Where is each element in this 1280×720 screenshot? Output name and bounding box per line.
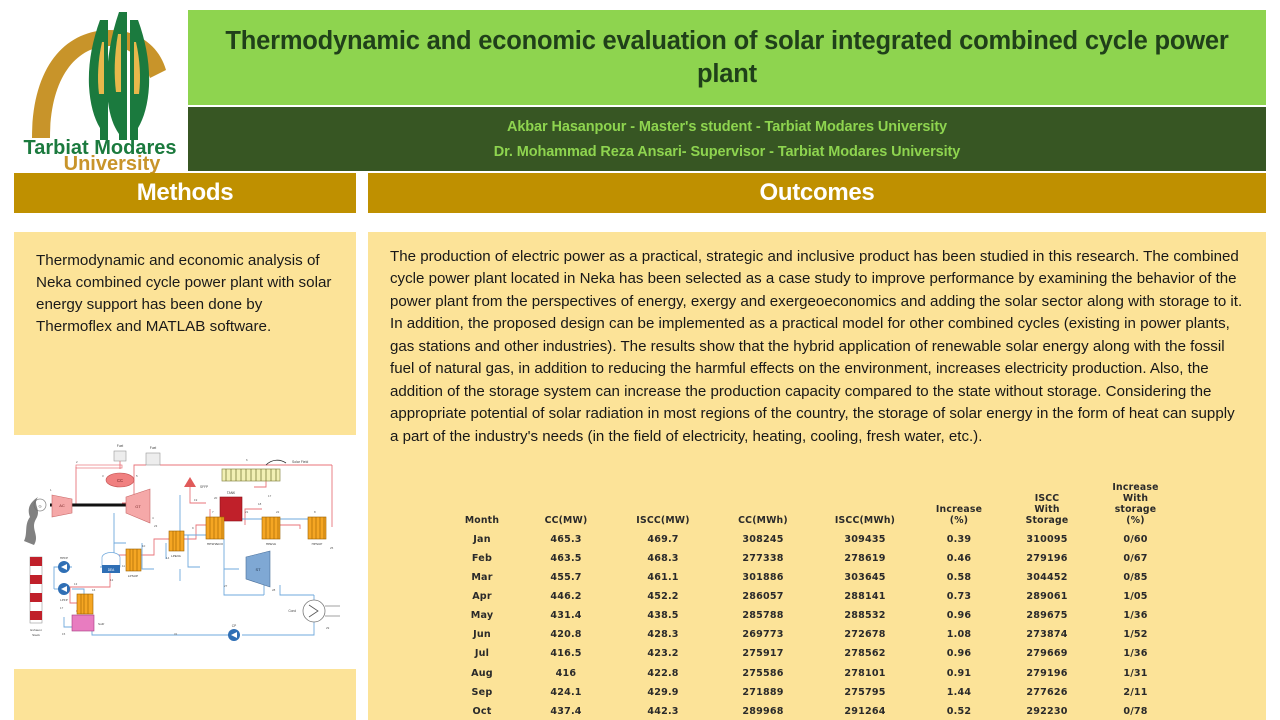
table-cell: 0.39 <box>917 530 1001 549</box>
table-cell: 288141 <box>813 587 917 606</box>
hx-hpeva-label: HPEVA <box>266 542 277 546</box>
svg-text:12: 12 <box>110 578 114 582</box>
table-cell: 289061 <box>1001 587 1093 606</box>
svg-text:17: 17 <box>60 606 64 610</box>
page-title: Thermodynamic and economic evaluation of… <box>188 25 1266 90</box>
table-cell: May <box>445 606 519 625</box>
table-cell: 289675 <box>1001 606 1093 625</box>
svg-text:23: 23 <box>154 524 158 528</box>
svg-text:17: 17 <box>268 494 272 498</box>
process-flow-diagram: G AC CC GT Fuel Fuel <box>14 439 356 669</box>
table-cell: 0.52 <box>917 702 1001 720</box>
table-cell: 455.7 <box>519 568 613 587</box>
hx-lpsup-label: LPSUP <box>128 574 138 578</box>
table-cell: 431.4 <box>519 606 613 625</box>
condenser-label: Cond <box>288 609 296 613</box>
table-cell: 469.7 <box>613 530 713 549</box>
table-cell: 2/11 <box>1093 683 1178 702</box>
svg-text:11: 11 <box>122 564 125 568</box>
table-cell: 0/60 <box>1093 530 1178 549</box>
results-table-wrapper: MonthCC(MW)ISCC(MW)CC(MWh)ISCC(MWh)Incre… <box>445 482 1178 720</box>
table-column-header: ISCC(MW) <box>613 482 713 530</box>
author-line-2: Dr. Mohammad Reza Ansari- Supervisor - T… <box>494 144 961 160</box>
table-row: Oct437.4442.32899682912640.522922300/78 <box>445 702 1178 720</box>
table-cell: 446.2 <box>519 587 613 606</box>
svg-text:18: 18 <box>258 502 262 506</box>
table-cell: 303645 <box>813 568 917 587</box>
table-cell: 288532 <box>813 606 917 625</box>
fuel-valve-2-icon <box>146 453 160 465</box>
svg-text:25: 25 <box>330 546 334 550</box>
table-cell: 1/36 <box>1093 644 1178 663</box>
table-row: Apr446.2452.22860572881410.732890611/05 <box>445 587 1178 606</box>
fuel-label-1: Fuel <box>117 444 124 448</box>
svg-text:14: 14 <box>166 556 170 560</box>
methods-text-panel: Thermodynamic and economic analysis of N… <box>14 232 356 435</box>
table-row: May431.4438.52857882885320.962896751/36 <box>445 606 1178 625</box>
hx-hpsh-label: HPSH/ECO <box>207 542 224 546</box>
table-cell: 308245 <box>713 530 813 549</box>
poster-page: Tarbiat Modares University Thermodynamic… <box>0 0 1280 720</box>
table-row: Sep424.1429.92718892757951.442776262/11 <box>445 683 1178 702</box>
outcomes-body-text: The production of electric power as a pr… <box>390 246 1244 448</box>
table-cell: 422.8 <box>613 664 713 683</box>
section-heading-outcomes: Outcomes <box>760 179 875 207</box>
table-cell: 272678 <box>813 625 917 644</box>
table-cell: Aug <box>445 664 519 683</box>
table-cell: 286057 <box>713 587 813 606</box>
svg-text:15: 15 <box>62 632 66 636</box>
table-cell: 0.58 <box>917 568 1001 587</box>
table-cell: 275917 <box>713 644 813 663</box>
table-column-header: Increase(%) <box>917 482 1001 530</box>
storage-tank-label: TANK <box>227 491 236 495</box>
table-cell: 289968 <box>713 702 813 720</box>
table-cell: 0/78 <box>1093 702 1178 720</box>
svg-text:31: 31 <box>174 632 178 636</box>
table-cell: 465.3 <box>519 530 613 549</box>
table-column-header-line: CC(MW) <box>520 516 612 527</box>
table-cell: 437.4 <box>519 702 613 720</box>
table-cell: 463.5 <box>519 549 613 568</box>
table-cell: 310095 <box>1001 530 1093 549</box>
table-cell: 291264 <box>813 702 917 720</box>
table-row: Jul416.5423.22759172785620.962796691/36 <box>445 644 1178 663</box>
poster-title-banner: Thermodynamic and economic evaluation of… <box>188 10 1266 105</box>
table-column-header-line: (%) <box>1094 516 1177 527</box>
table-cell: 0.46 <box>917 549 1001 568</box>
table-cell: 428.3 <box>613 625 713 644</box>
heat-exchanger-hpsh-icon: HPSH/ECO <box>206 517 224 546</box>
table-cell: 269773 <box>713 625 813 644</box>
table-cell: Jan <box>445 530 519 549</box>
hx-lpeva-label: LPEVA <box>171 554 182 558</box>
section-heading-methods: Methods <box>137 179 234 207</box>
table-cell: 304452 <box>1001 568 1093 587</box>
solar-field-label: Solar Field <box>292 460 308 464</box>
logo-artwork: Tarbiat Modares University <box>14 8 184 174</box>
table-header: MonthCC(MW)ISCC(MW)CC(MWh)ISCC(MWh)Incre… <box>445 482 1178 530</box>
table-cell: 423.2 <box>613 644 713 663</box>
table-cell: Mar <box>445 568 519 587</box>
table-cell: Sep <box>445 683 519 702</box>
table-column-header-line: CC(MWh) <box>714 516 812 527</box>
table-cell: 1/36 <box>1093 606 1178 625</box>
deaerator-label: DEA <box>108 568 115 572</box>
table-header-row: MonthCC(MW)ISCC(MW)CC(MWh)ISCC(MWh)Incre… <box>445 482 1178 530</box>
table-cell: 275586 <box>713 664 813 683</box>
svg-text:29: 29 <box>326 626 330 630</box>
table-cell: 309435 <box>813 530 917 549</box>
exhaust-stack-label-line1: Exhaust <box>30 628 41 632</box>
table-cell: 301886 <box>713 568 813 587</box>
table-cell: 416 <box>519 664 613 683</box>
tulip-leaves-group <box>89 12 149 140</box>
table-column-header-line: Month <box>446 516 518 527</box>
svg-text:19: 19 <box>194 498 198 502</box>
table-column-header-line: (%) <box>918 516 1000 527</box>
table-cell: 468.3 <box>613 549 713 568</box>
table-cell: 1.08 <box>917 625 1001 644</box>
table-column-header-line: ISCC(MWh) <box>814 516 916 527</box>
table-row: Feb463.5468.32773382786190.462791960/67 <box>445 549 1178 568</box>
table-column-header: Month <box>445 482 519 530</box>
section-header-outcomes: Outcomes <box>368 173 1266 213</box>
table-column-header: CC(MW) <box>519 482 613 530</box>
process-flow-diagram-figure: G AC CC GT Fuel Fuel <box>14 439 356 669</box>
logo-text-line2: University <box>64 153 162 174</box>
table-column-header: ISCCWithStorage <box>1001 482 1093 530</box>
diagram-canvas <box>14 439 356 669</box>
table-cell: 279196 <box>1001 664 1093 683</box>
svg-text:20: 20 <box>214 496 218 500</box>
methods-panel-footer <box>14 669 356 720</box>
table-cell: 1/31 <box>1093 664 1178 683</box>
table-cell: 0/85 <box>1093 568 1178 587</box>
hx-hpsup-label: HPSUP <box>312 542 323 546</box>
table-cell: 0.96 <box>917 644 1001 663</box>
table-cell: 277626 <box>1001 683 1093 702</box>
section-header-methods: Methods <box>14 173 356 213</box>
fuel-valve-1-icon <box>114 451 126 461</box>
table-cell: 271889 <box>713 683 813 702</box>
table-cell: 278619 <box>813 549 917 568</box>
table-cell: 279196 <box>1001 549 1093 568</box>
table-cell: 285788 <box>713 606 813 625</box>
table-cell: 429.9 <box>613 683 713 702</box>
table-cell: 0.96 <box>917 606 1001 625</box>
steam-turbine-label: ST <box>255 567 261 572</box>
table-cell: 416.5 <box>519 644 613 663</box>
svg-text:28: 28 <box>272 588 276 592</box>
table-cell: 278562 <box>813 644 917 663</box>
table-cell: 452.2 <box>613 587 713 606</box>
table-cell: 420.8 <box>519 625 613 644</box>
table-cell: 0/67 <box>1093 549 1178 568</box>
authors-banner: Akbar Hasanpour - Master's student - Tar… <box>188 107 1266 171</box>
table-cell: 1.44 <box>917 683 1001 702</box>
exhaust-stack-label-line2: Stack <box>32 633 40 637</box>
table-cell: 277338 <box>713 549 813 568</box>
table-cell: 461.1 <box>613 568 713 587</box>
table-row: Jun420.8428.32697732726781.082738741/52 <box>445 625 1178 644</box>
table-column-header-line: ISCC(MW) <box>614 516 712 527</box>
hp-feed-pump-label: HPFP <box>60 556 68 560</box>
table-cell: 273874 <box>1001 625 1093 644</box>
table-column-header-line: Storage <box>1002 516 1092 527</box>
table-column-header: CC(MWh) <box>713 482 813 530</box>
table-row: Aug416422.82755862781010.912791961/31 <box>445 664 1178 683</box>
table-cell: Jul <box>445 644 519 663</box>
svg-text:27: 27 <box>224 584 228 588</box>
table-cell: 292230 <box>1001 702 1093 720</box>
table-cell: Jun <box>445 625 519 644</box>
table-cell: 438.5 <box>613 606 713 625</box>
university-logo: Tarbiat Modares University <box>14 8 184 174</box>
table-cell: Apr <box>445 587 519 606</box>
table-cell: 0.73 <box>917 587 1001 606</box>
table-body: Jan465.3469.73082453094350.393100950/60F… <box>445 530 1178 720</box>
solar-pump-label: SFFP <box>200 485 208 489</box>
methods-body-text: Thermodynamic and economic analysis of N… <box>36 250 336 338</box>
fuel-label-2: Fuel <box>150 446 157 450</box>
deaerator-shell <box>102 553 120 568</box>
table-cell: 442.3 <box>613 702 713 720</box>
table-row: Jan465.3469.73082453094350.393100950/60 <box>445 530 1178 549</box>
table-cell: 278101 <box>813 664 917 683</box>
table-column-header: IncreaseWithstorage(%) <box>1093 482 1178 530</box>
svg-text:13: 13 <box>74 582 78 586</box>
condensate-pump-label: CP <box>232 624 236 628</box>
table-cell: Oct <box>445 702 519 720</box>
generator-label: G <box>38 504 41 509</box>
table-cell: 1/52 <box>1093 625 1178 644</box>
svg-text:16: 16 <box>92 588 96 592</box>
gas-turbine-label: GT <box>135 504 141 509</box>
svg-text:22: 22 <box>276 510 280 514</box>
table-row: Mar455.7461.13018863036450.583044520/85 <box>445 568 1178 587</box>
table-cell: 275795 <box>813 683 917 702</box>
table-column-header: ISCC(MWh) <box>813 482 917 530</box>
monthly-results-table: MonthCC(MW)ISCC(MW)CC(MWh)ISCC(MWh)Incre… <box>445 482 1178 720</box>
condenser-icon <box>303 600 325 622</box>
table-cell: 0.91 <box>917 664 1001 683</box>
svg-text:10: 10 <box>142 544 146 548</box>
table-cell: 424.1 <box>519 683 613 702</box>
compressor-label: AC <box>59 503 65 508</box>
combustor-label: CC <box>117 478 123 483</box>
table-cell: 1/05 <box>1093 587 1178 606</box>
table-cell: 279669 <box>1001 644 1093 663</box>
sulfur-unit-label: Sulfr <box>98 622 104 626</box>
author-line-1: Akbar Hasanpour - Master's student - Tar… <box>507 119 947 135</box>
svg-text:21: 21 <box>245 510 249 514</box>
table-cell: Feb <box>445 549 519 568</box>
lp-feed-pump-label: LPFP <box>60 598 68 602</box>
